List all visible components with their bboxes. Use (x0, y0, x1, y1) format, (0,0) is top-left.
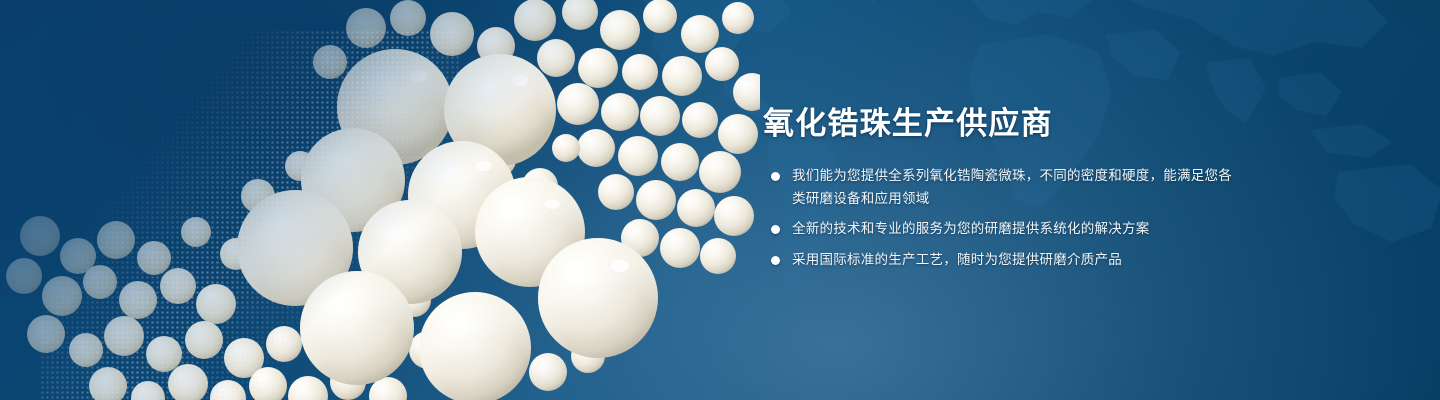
bullet-dot-icon (771, 225, 780, 234)
banner-headline: 氧化锆珠生产供应商 (763, 104, 1233, 144)
banner-copy: 氧化锆珠生产供应商 我们能为您提供全系列氧化锆陶瓷微珠，不同的密度和硬度，能满足… (763, 104, 1233, 271)
feature-bullet-list: 我们能为您提供全系列氧化锆陶瓷微珠，不同的密度和硬度，能满足您各类研磨设备和应用… (763, 165, 1233, 271)
bullet-dot-icon (771, 256, 780, 265)
hero-banner: 氧化锆珠生产供应商 我们能为您提供全系列氧化锆陶瓷微珠，不同的密度和硬度，能满足… (0, 0, 1440, 400)
bullet-text: 采用国际标准的生产工艺，随时为您提供研磨介质产品 (792, 252, 1122, 267)
bullet-text: 全新的技术和专业的服务为您的研磨提供系统化的解决方案 (792, 221, 1150, 236)
bullet-text: 我们能为您提供全系列氧化锆陶瓷微珠，不同的密度和硬度，能满足您各类研磨设备和应用… (792, 168, 1232, 206)
list-item: 我们能为您提供全系列氧化锆陶瓷微珠，不同的密度和硬度，能满足您各类研磨设备和应用… (763, 165, 1233, 210)
list-item: 全新的技术和专业的服务为您的研磨提供系统化的解决方案 (763, 218, 1233, 241)
list-item: 采用国际标准的生产工艺，随时为您提供研磨介质产品 (763, 249, 1233, 272)
bullet-dot-icon (771, 172, 780, 181)
